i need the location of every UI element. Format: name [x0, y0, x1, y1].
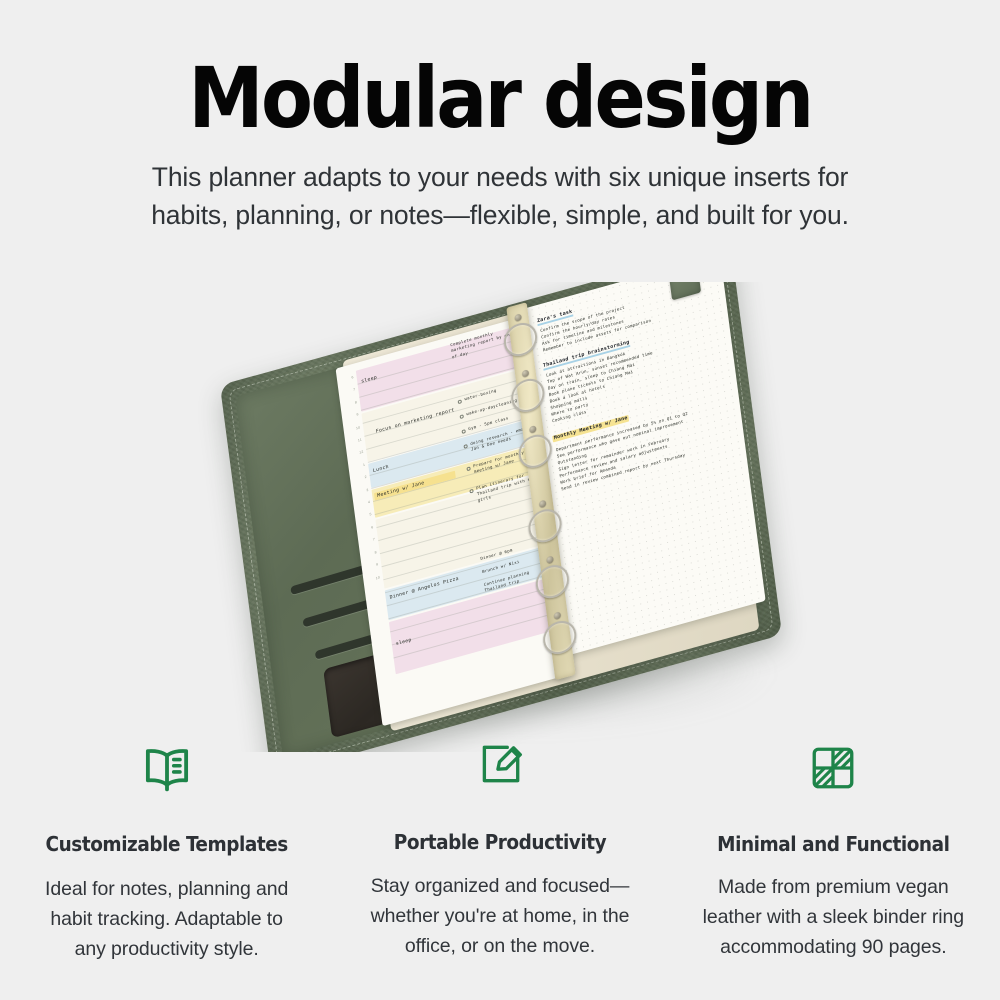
product-photo: 678910111212345678910 [0, 282, 1000, 752]
task-label: wake-up-daycleaning [466, 398, 518, 418]
page-subtitle: This planner adapts to your needs with s… [140, 158, 860, 234]
task-label: water-boxing [464, 388, 497, 403]
promo-page: Modular design This planner adapts to yo… [0, 0, 1000, 1000]
feature-card-portable-productivity: Portable Productivity Stay organized and… [333, 726, 666, 1000]
product-photo-scene: 678910111212345678910 [0, 282, 1000, 752]
task-checkbox [463, 444, 467, 448]
task-checkbox [460, 414, 464, 418]
grid-quadrant-icon [805, 740, 861, 796]
page-title: Modular design [0, 52, 1000, 144]
task-checkbox [466, 467, 470, 471]
open-book-icon [139, 740, 195, 796]
feature-description: Made from premium vegan leather with a s… [695, 872, 971, 962]
task-checkbox [462, 429, 466, 433]
feature-description: Ideal for notes, planning and habit trac… [36, 874, 298, 964]
feature-card-customizable-templates: Customizable Templates Ideal for notes, … [0, 726, 333, 1000]
task-checkbox [458, 399, 462, 403]
feature-title: Minimal and Functional [717, 832, 949, 856]
feature-card-minimal-and-functional: Minimal and Functional Made from premium… [667, 726, 1000, 1000]
feature-title: Customizable Templates [46, 832, 288, 856]
feature-list: Customizable Templates Ideal for notes, … [0, 726, 1000, 1000]
edit-square-pencil-icon [472, 736, 528, 792]
task-label: Gym - 5pm class [468, 415, 509, 432]
feature-description: Stay organized and focused—whether you'r… [355, 871, 645, 961]
feature-title: Portable Productivity [394, 830, 606, 854]
evening-entry: Dinner @ 6pm [480, 547, 513, 562]
task-checkbox [469, 489, 473, 493]
